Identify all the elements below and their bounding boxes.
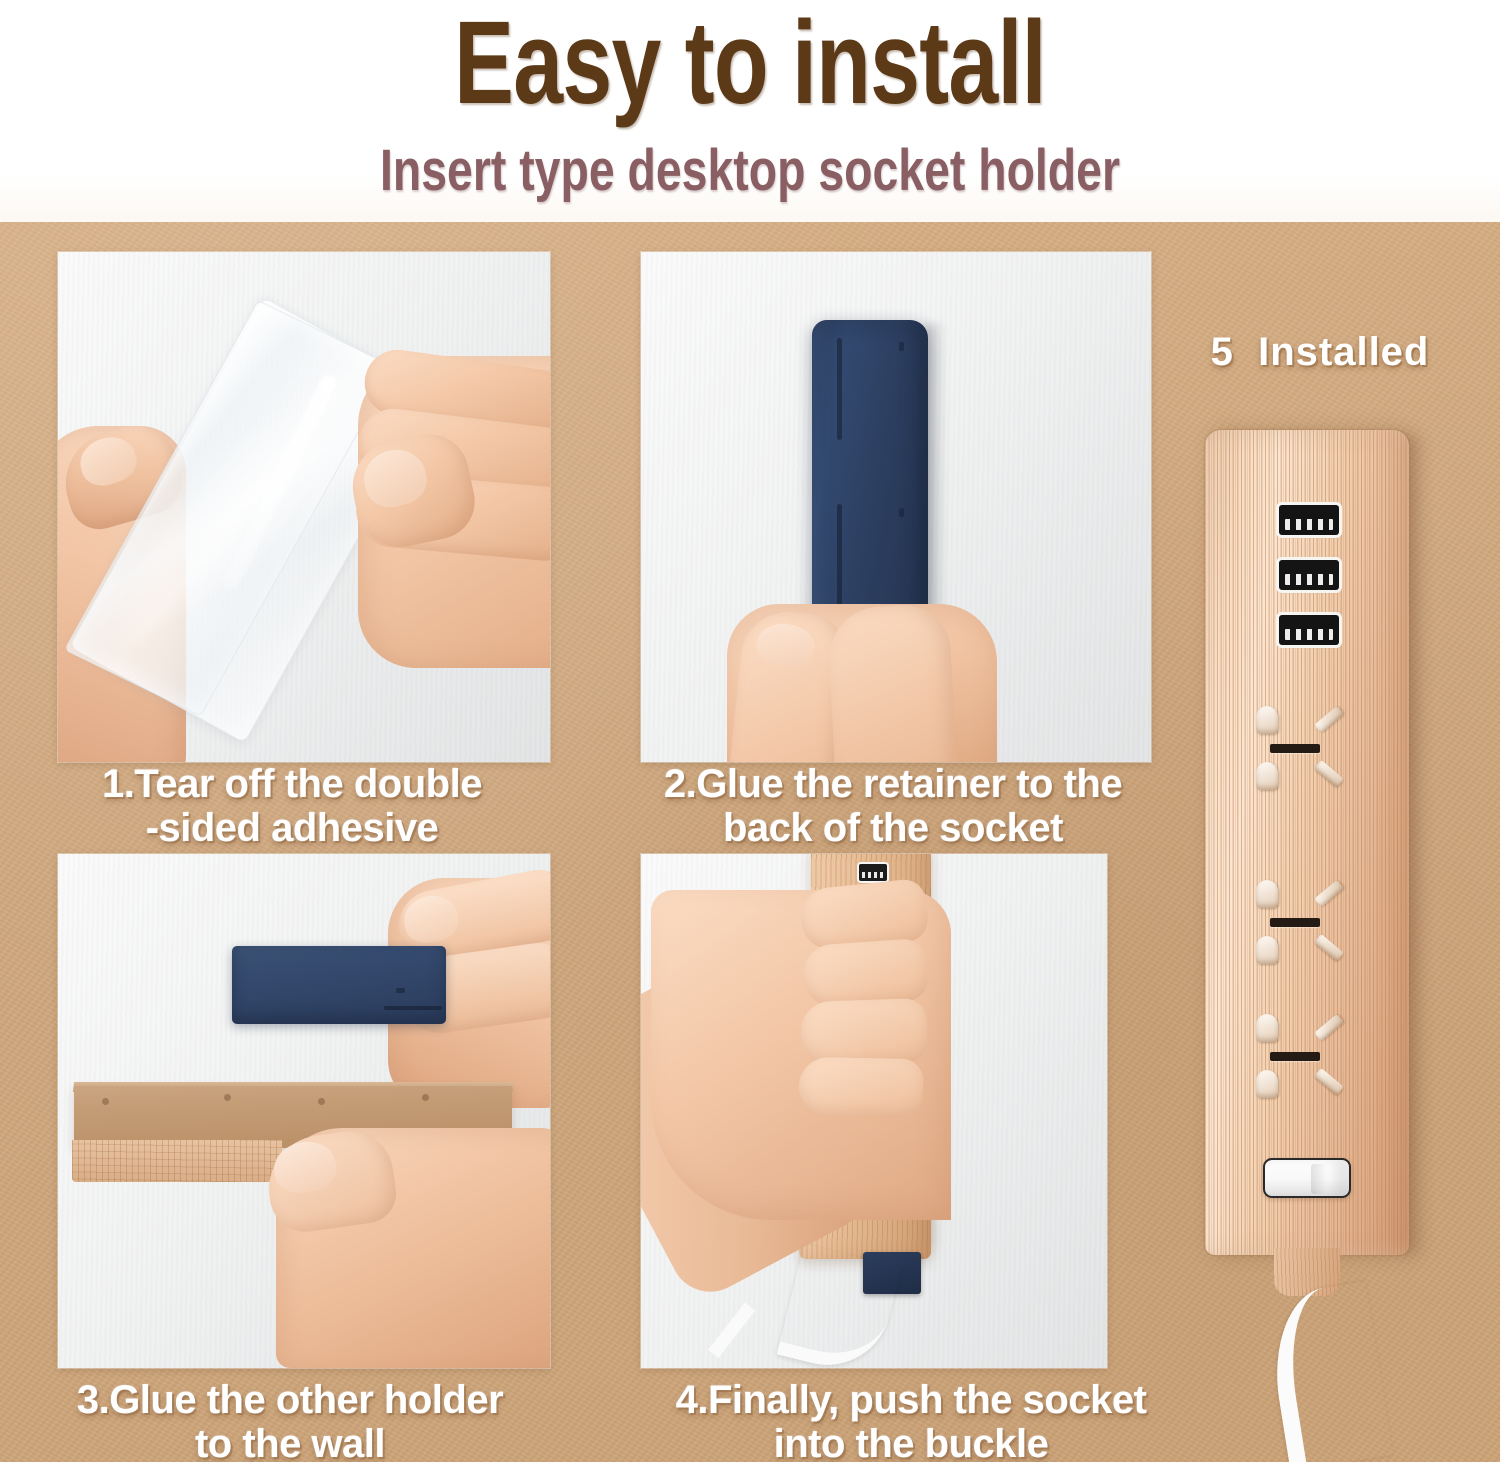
step-3-caption: 3.Glue the other holder to the wall (10, 1378, 570, 1462)
socket-strip-wood-face (72, 1140, 282, 1182)
screw-hole (224, 1094, 231, 1101)
finger (800, 998, 928, 1066)
navy-retainer-clip (812, 320, 928, 640)
usb-port-icon (1279, 505, 1339, 535)
step-5-caption: 5 Installed (1150, 330, 1490, 374)
outlet-angled-pin (1314, 880, 1344, 908)
screw-hole (102, 1098, 109, 1105)
outlet-angled-pin (1314, 760, 1344, 788)
outlet-socket (1252, 880, 1368, 1008)
finger (826, 603, 957, 762)
outlet-socket (1252, 1014, 1368, 1142)
retainer-ridge (837, 338, 842, 440)
step-4-photo (641, 854, 1107, 1368)
outlet-neutral-slot (1270, 1052, 1320, 1061)
usb-port-icon (1279, 615, 1339, 645)
outlet-neutral-slot (1270, 744, 1320, 753)
step-3-photo (58, 854, 550, 1368)
page-title: Easy to install (180, 4, 1320, 122)
finger (801, 938, 929, 1008)
step-1-photo (58, 252, 550, 762)
finger (799, 1057, 924, 1117)
outlet-slot (1256, 936, 1278, 964)
step-2-photo (641, 252, 1151, 762)
holder-slot (384, 1006, 442, 1010)
usb-port-icon (859, 864, 887, 881)
outlet-angled-pin (1314, 706, 1344, 734)
outlet-slot (1256, 762, 1278, 790)
holder-mark (396, 988, 405, 993)
outlet-slot (1256, 1014, 1278, 1042)
step-4-caption: 4.Finally, push the socket into the buck… (596, 1378, 1226, 1462)
usb-port-icon (1279, 560, 1339, 590)
outlet-slot (1256, 706, 1278, 734)
navy-wall-holder (232, 946, 446, 1024)
step-2-caption: 2.Glue the retainer to the back of the s… (588, 762, 1198, 850)
screw-hole (318, 1098, 325, 1105)
outlet-angled-pin (1314, 1068, 1344, 1096)
outlet-neutral-slot (1270, 918, 1320, 927)
retainer-mark (899, 342, 904, 351)
screw-hole (422, 1094, 429, 1101)
step-1-caption: 1.Tear off the double -sided adhesive (22, 762, 562, 850)
outlet-slot (1256, 880, 1278, 908)
outlet-slot (1256, 1070, 1278, 1098)
power-switch[interactable] (1263, 1158, 1351, 1198)
retainer-mark (899, 508, 904, 517)
outlet-angled-pin (1314, 934, 1344, 962)
page-subtitle: Insert type desktop socket holder (150, 140, 1350, 202)
outlet-socket (1252, 706, 1368, 834)
outlet-angled-pin (1314, 1014, 1344, 1042)
retainer-ridge (837, 504, 842, 612)
header-banner: Easy to install Insert type desktop sock… (0, 0, 1500, 222)
